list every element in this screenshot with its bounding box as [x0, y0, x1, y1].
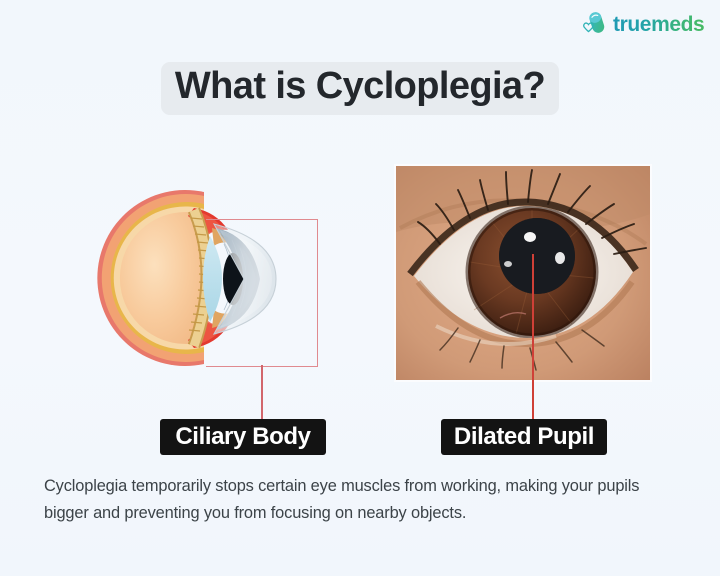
label-chip-ciliary-body-text: Ciliary Body [175, 425, 310, 449]
pill-heart-icon [583, 11, 608, 38]
caption-text: Cycloplegia temporarily stops certain ey… [44, 473, 678, 526]
eye-cross-section-diagram [44, 178, 304, 378]
label-chip-dilated-pupil-text: Dilated Pupil [454, 425, 594, 449]
ciliary-body-leader-line [261, 365, 263, 422]
page-title: What is Cycloplegia? [161, 62, 559, 115]
eye-anatomy-svg [44, 178, 304, 378]
label-chip-dilated-pupil: Dilated Pupil [441, 419, 607, 455]
label-chip-ciliary-body: Ciliary Body [160, 419, 326, 455]
page-title-container: What is Cycloplegia? [0, 62, 720, 115]
dilated-pupil-leader-line [532, 254, 534, 422]
infographic-page: truemeds What is Cycloplegia? [0, 0, 720, 576]
eye-photo-svg [396, 166, 650, 380]
brand-name: truemeds [613, 14, 704, 35]
dilated-pupil-photo [396, 166, 650, 380]
brand-logo: truemeds [583, 9, 704, 39]
